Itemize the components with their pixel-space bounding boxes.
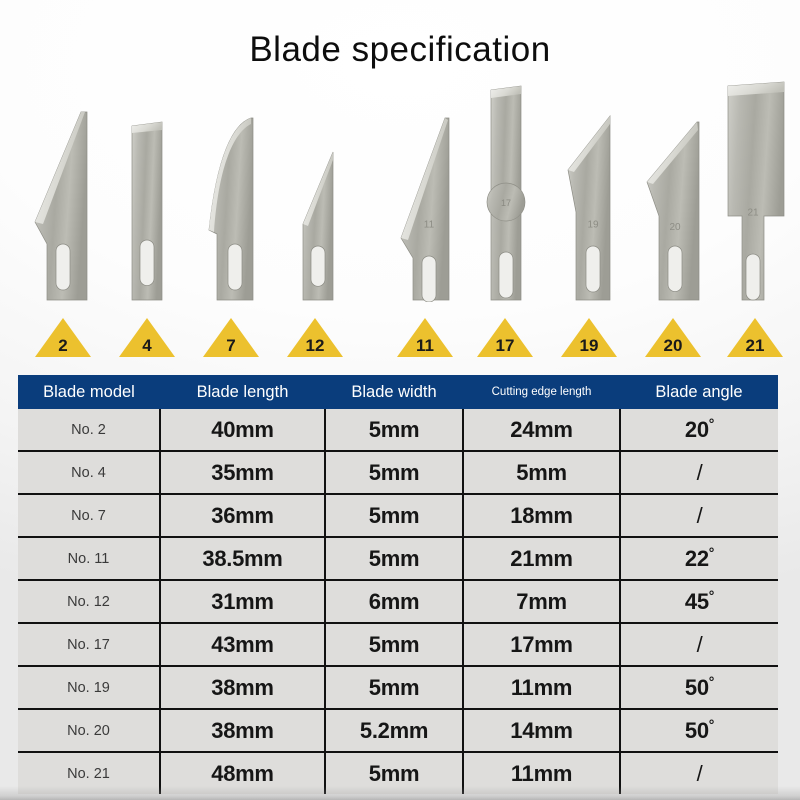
cell-blade-model: No. 21 — [18, 752, 160, 794]
cell-blade-angle: / — [620, 623, 778, 666]
table-header-row: Blade model Blade length Blade width Cut… — [18, 375, 778, 409]
cell-blade-angle: 22° — [620, 537, 778, 580]
cell-blade-width: 5mm — [325, 623, 463, 666]
blade-item-12: 12 — [272, 78, 358, 358]
blade-badge-12: 12 — [286, 316, 344, 358]
column-header-blade-angle: Blade angle — [620, 375, 778, 409]
blade-item-2: 2 — [20, 78, 106, 358]
cell-blade-length: 48mm — [160, 752, 325, 794]
cell-blade-length: 35mm — [160, 451, 325, 494]
cell-cutting-edge-length: 21mm — [463, 537, 620, 580]
cell-blade-width: 5mm — [325, 494, 463, 537]
blade-badge-label: 19 — [580, 337, 599, 358]
blade-item-19: 19 19 — [546, 78, 632, 358]
cell-cutting-edge-length: 11mm — [463, 666, 620, 709]
svg-text:19: 19 — [587, 220, 599, 231]
table-row: No. 11 38.5mm 5mm 21mm 22° — [18, 537, 778, 580]
cell-blade-model: No. 11 — [18, 537, 160, 580]
cell-blade-width: 5mm — [325, 451, 463, 494]
blade-photo-strip: 2 4 — [0, 78, 800, 358]
cell-cutting-edge-length: 7mm — [463, 580, 620, 623]
cell-blade-width: 5mm — [325, 409, 463, 451]
blade-badge-2: 2 — [34, 316, 92, 358]
page-title: Blade specification — [0, 30, 800, 70]
cell-blade-width: 5mm — [325, 666, 463, 709]
blade-badge-label: 20 — [664, 337, 683, 358]
svg-text:11: 11 — [424, 220, 435, 231]
blade-item-17: 17 17 — [462, 78, 548, 358]
svg-text:21: 21 — [747, 207, 759, 218]
cell-blade-angle: / — [620, 451, 778, 494]
table-row: No. 20 38mm 5.2mm 14mm 50° — [18, 709, 778, 752]
blade-badge-label: 7 — [226, 337, 235, 358]
cell-blade-width: 5mm — [325, 752, 463, 794]
blade-17-illustration: 17 — [462, 80, 548, 302]
cell-cutting-edge-length: 24mm — [463, 409, 620, 451]
blade-item-11: 11 11 — [382, 78, 468, 358]
blade-badge-11: 11 — [396, 316, 454, 358]
cell-blade-length: 36mm — [160, 494, 325, 537]
cell-blade-length: 40mm — [160, 409, 325, 451]
table-body: No. 2 40mm 5mm 24mm 20°No. 4 35mm 5mm 5m… — [18, 409, 778, 794]
column-header-blade-width: Blade width — [325, 375, 463, 409]
cell-cutting-edge-length: 11mm — [463, 752, 620, 794]
blade-item-21: 21 21 — [712, 78, 798, 358]
cell-blade-model: No. 4 — [18, 451, 160, 494]
blade-21-illustration: 21 — [712, 74, 798, 302]
blade-specification-table: Blade model Blade length Blade width Cut… — [18, 375, 778, 794]
cell-blade-length: 31mm — [160, 580, 325, 623]
table-row: No. 7 36mm 5mm 18mm / — [18, 494, 778, 537]
blade-11-illustration: 11 — [382, 106, 468, 302]
blade-7-illustration — [188, 110, 274, 302]
cell-blade-length: 38mm — [160, 709, 325, 752]
cell-blade-model: No. 12 — [18, 580, 160, 623]
blade-20-illustration: 20 — [630, 112, 716, 302]
blade-2-illustration — [20, 104, 106, 302]
blade-badge-19: 19 — [560, 316, 618, 358]
cell-blade-model: No. 2 — [18, 409, 160, 451]
cell-blade-model: No. 17 — [18, 623, 160, 666]
svg-text:17: 17 — [501, 198, 511, 208]
cell-blade-width: 5.2mm — [325, 709, 463, 752]
blade-badge-label: 17 — [496, 337, 515, 358]
cell-blade-model: No. 7 — [18, 494, 160, 537]
blade-specification-page: Blade specification 2 — [0, 0, 800, 800]
blade-12-illustration — [272, 134, 358, 302]
cell-blade-length: 38.5mm — [160, 537, 325, 580]
column-header-blade-length: Blade length — [160, 375, 325, 409]
blade-badge-17: 17 — [476, 316, 534, 358]
cell-blade-model: No. 20 — [18, 709, 160, 752]
cell-blade-width: 5mm — [325, 537, 463, 580]
blade-badge-4: 4 — [118, 316, 176, 358]
cell-blade-angle: / — [620, 494, 778, 537]
cell-blade-angle: / — [620, 752, 778, 794]
table-row: No. 2 40mm 5mm 24mm 20° — [18, 409, 778, 451]
cell-cutting-edge-length: 17mm — [463, 623, 620, 666]
blade-badge-label: 2 — [58, 337, 67, 358]
cell-cutting-edge-length: 5mm — [463, 451, 620, 494]
blade-badge-label: 4 — [142, 337, 151, 358]
table-row: No. 19 38mm 5mm 11mm 50° — [18, 666, 778, 709]
cell-blade-angle: 45° — [620, 580, 778, 623]
cell-blade-length: 38mm — [160, 666, 325, 709]
blade-badge-7: 7 — [202, 316, 260, 358]
blade-badge-21: 21 — [726, 316, 784, 358]
blade-19-illustration: 19 — [546, 106, 632, 302]
cell-blade-angle: 20° — [620, 409, 778, 451]
blade-item-20: 20 20 — [630, 78, 716, 358]
column-header-blade-model: Blade model — [18, 375, 160, 409]
cell-blade-width: 6mm — [325, 580, 463, 623]
table-header: Blade model Blade length Blade width Cut… — [18, 375, 778, 409]
column-header-cutting-edge-length: Cutting edge length — [463, 375, 620, 409]
blade-4-illustration — [104, 112, 190, 302]
svg-text:20: 20 — [669, 222, 681, 233]
cell-cutting-edge-length: 14mm — [463, 709, 620, 752]
cell-blade-length: 43mm — [160, 623, 325, 666]
blade-badge-label: 21 — [746, 337, 765, 358]
cell-blade-angle: 50° — [620, 709, 778, 752]
table-row: No. 17 43mm 5mm 17mm / — [18, 623, 778, 666]
blade-item-4: 4 — [104, 78, 190, 358]
cell-blade-angle: 50° — [620, 666, 778, 709]
cell-cutting-edge-length: 18mm — [463, 494, 620, 537]
cell-blade-model: No. 19 — [18, 666, 160, 709]
blade-badge-20: 20 — [644, 316, 702, 358]
table-row: No. 12 31mm 6mm 7mm 45° — [18, 580, 778, 623]
blade-badge-label: 11 — [416, 337, 434, 358]
blade-badge-label: 12 — [306, 337, 325, 358]
table-row: No. 4 35mm 5mm 5mm / — [18, 451, 778, 494]
blade-item-7: 7 — [188, 78, 274, 358]
table-row: No. 21 48mm 5mm 11mm / — [18, 752, 778, 794]
